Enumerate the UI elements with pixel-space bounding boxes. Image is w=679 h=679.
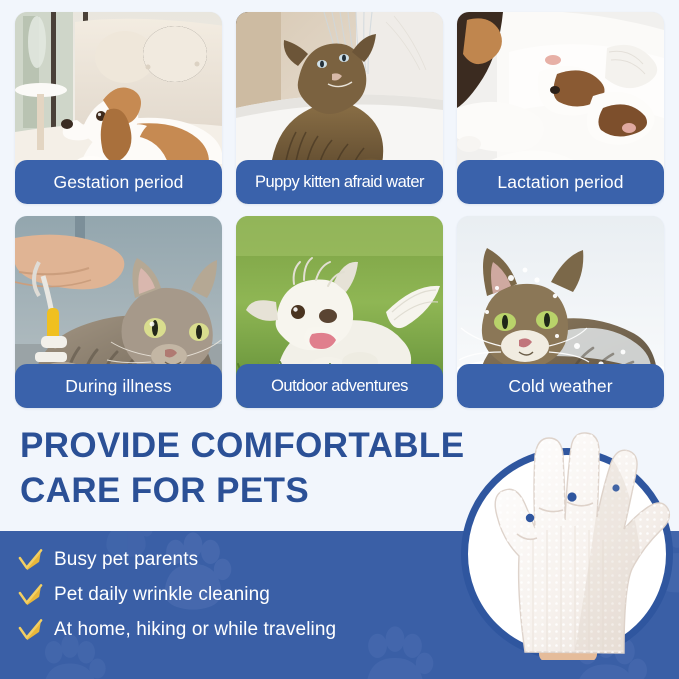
check-icon bbox=[18, 619, 43, 641]
benefit-label: Busy pet parents bbox=[54, 549, 198, 571]
card-caption: Puppy kitten afraid water bbox=[236, 160, 443, 204]
headline-line-1: PROVIDE COMFORTABLE bbox=[20, 424, 500, 469]
card-caption: Outdoor adventures bbox=[236, 364, 443, 408]
card-caption: During illness bbox=[15, 364, 222, 408]
benefit-label: At home, hiking or while traveling bbox=[54, 619, 336, 641]
page-headline: PROVIDE COMFORTABLE CARE FOR PETS bbox=[20, 424, 500, 514]
scenario-card-grid: Gestation period bbox=[15, 12, 665, 408]
scenario-card[interactable]: Puppy kitten afraid water bbox=[236, 12, 443, 204]
benefit-label: Pet daily wrinkle cleaning bbox=[54, 584, 270, 606]
scenario-card[interactable]: Gestation period bbox=[15, 12, 222, 204]
headline-line-2: CARE FOR PETS bbox=[20, 469, 500, 514]
product-highlight[interactable] bbox=[461, 448, 673, 660]
benefit-item[interactable]: Busy pet parents bbox=[18, 549, 336, 571]
card-caption: Gestation period bbox=[15, 160, 222, 204]
pet-grooming-glove-image bbox=[455, 390, 679, 660]
paw-print-icon bbox=[352, 623, 438, 679]
check-icon bbox=[18, 549, 43, 571]
benefits-list: Busy pet parents Pet daily wrinkle clean… bbox=[18, 549, 336, 641]
scenario-card[interactable]: Cold weather bbox=[457, 216, 664, 408]
scenario-card[interactable]: During illness bbox=[15, 216, 222, 408]
scenario-card[interactable]: Lactation period bbox=[457, 12, 664, 204]
scenario-card[interactable]: Outdoor adventures bbox=[236, 216, 443, 408]
card-caption: Lactation period bbox=[457, 160, 664, 204]
benefit-item[interactable]: Pet daily wrinkle cleaning bbox=[18, 584, 336, 606]
check-icon bbox=[18, 584, 43, 606]
benefit-item[interactable]: At home, hiking or while traveling bbox=[18, 619, 336, 641]
